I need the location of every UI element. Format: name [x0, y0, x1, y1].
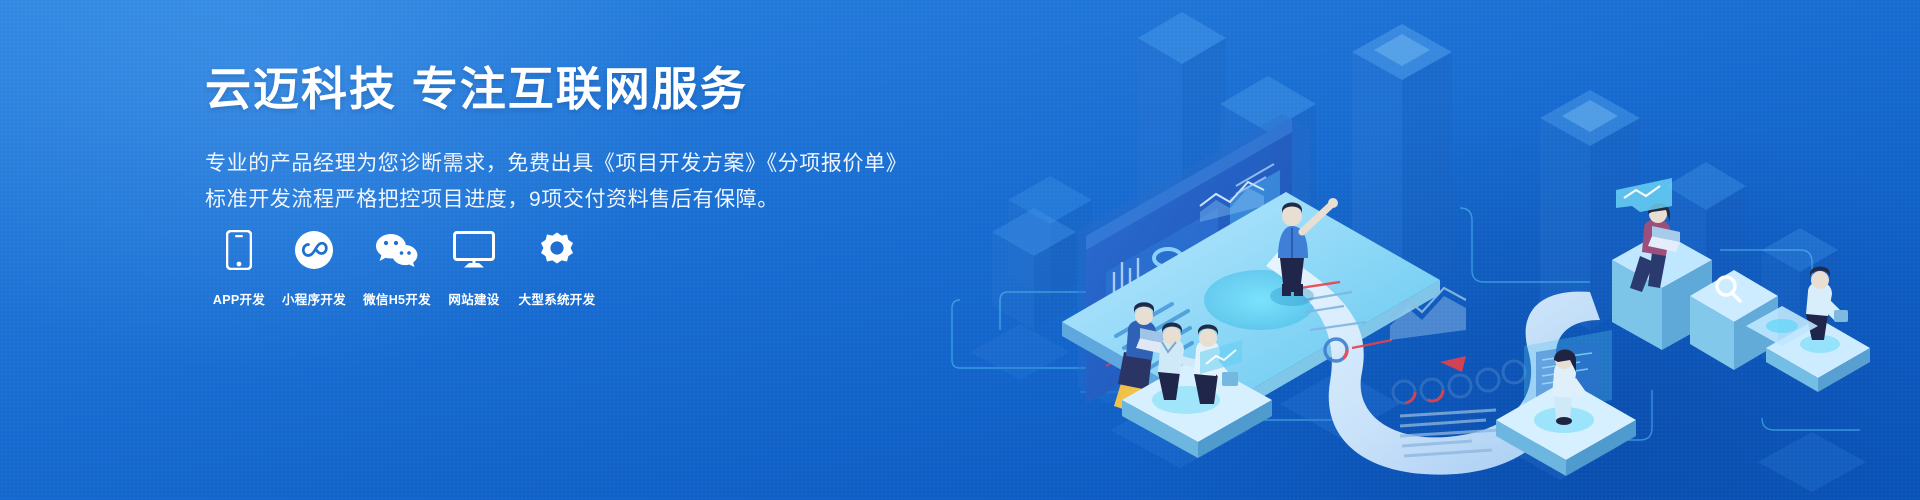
page-title: 云迈科技 专注互联网服务	[205, 62, 905, 117]
hero-banner: 云迈科技 专注互联网服务 专业的产品经理为您诊断需求，免费出具《项目开发方案》《…	[0, 0, 1920, 500]
service-item-large-system[interactable]: 大型系统开发	[509, 228, 605, 308]
monitor-icon	[453, 228, 495, 272]
service-item-wechat-h5[interactable]: 微信H5开发	[355, 228, 439, 308]
mini-program-icon	[294, 228, 334, 272]
service-label: 大型系统开发	[519, 289, 596, 308]
wechat-icon	[373, 228, 421, 272]
subtitle-line-1: 专业的产品经理为您诊断需求，免费出具《项目开发方案》《分项报价单》	[205, 147, 905, 181]
service-label: APP开发	[213, 289, 265, 308]
gear-icon	[537, 228, 577, 272]
subtitle-line-2: 标准开发流程严格把控项目进度，9项交付资料售后有保障。	[205, 183, 905, 217]
copy-block: 云迈科技 专注互联网服务 专业的产品经理为您诊断需求，免费出具《项目开发方案》《…	[205, 62, 905, 217]
service-list: APP开发 小程序开发 微信	[205, 228, 605, 308]
service-label: 微信H5开发	[363, 289, 431, 308]
service-item-app[interactable]: APP开发	[205, 228, 273, 308]
service-item-miniprogram[interactable]: 小程序开发	[273, 228, 355, 308]
mobile-phone-icon	[226, 228, 252, 272]
service-label: 网站建设	[448, 289, 499, 308]
service-label: 小程序开发	[282, 289, 346, 308]
service-item-website[interactable]: 网站建设	[439, 228, 509, 308]
illustration	[900, 0, 1920, 500]
